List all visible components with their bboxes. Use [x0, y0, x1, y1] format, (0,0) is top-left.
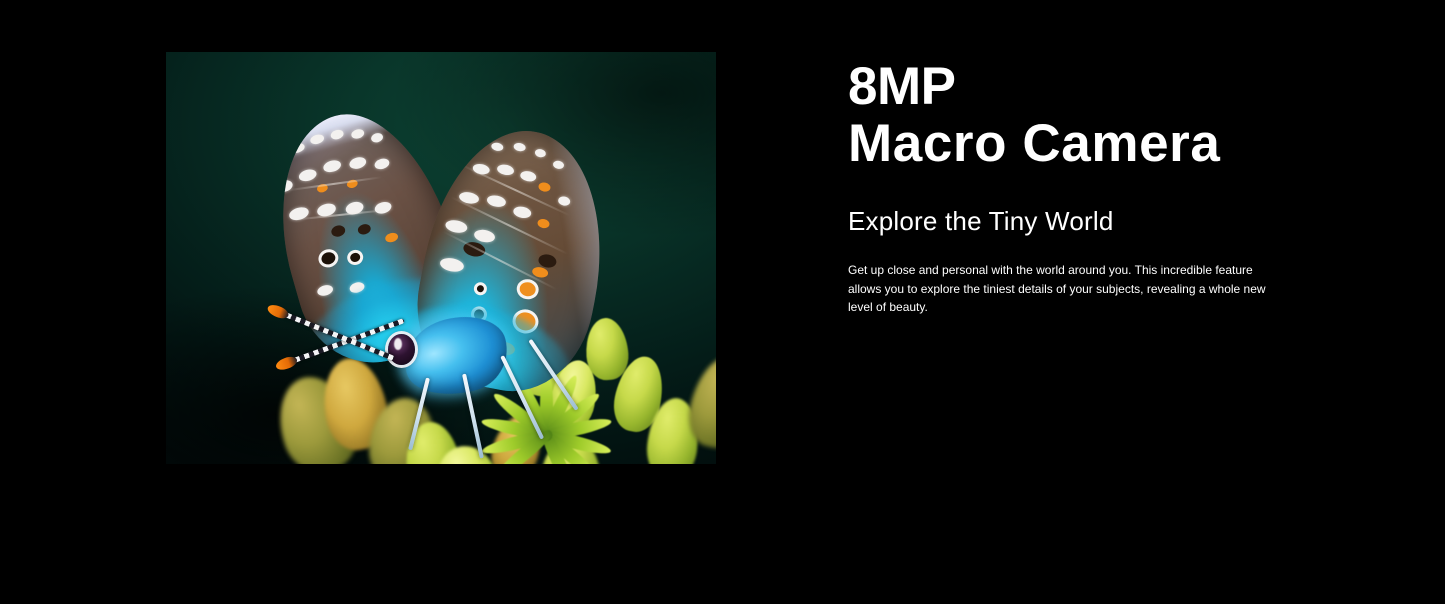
- body-copy: Get up close and personal with the world…: [848, 261, 1272, 316]
- headline-line-1: 8MP: [848, 57, 955, 116]
- feature-copy: 8MP Macro Camera Explore the Tiny World …: [848, 58, 1288, 316]
- feature-section: 8MP Macro Camera Explore the Tiny World …: [0, 0, 1445, 604]
- butterfly: [276, 82, 656, 442]
- headline-line-2: Macro Camera: [848, 115, 1288, 172]
- subheadline: Explore the Tiny World: [848, 206, 1288, 237]
- butterfly-eye-highlight: [394, 338, 402, 350]
- page-title: 8MP Macro Camera: [848, 58, 1288, 172]
- antenna-tip-icon: [274, 354, 298, 372]
- macro-photo: [166, 52, 716, 464]
